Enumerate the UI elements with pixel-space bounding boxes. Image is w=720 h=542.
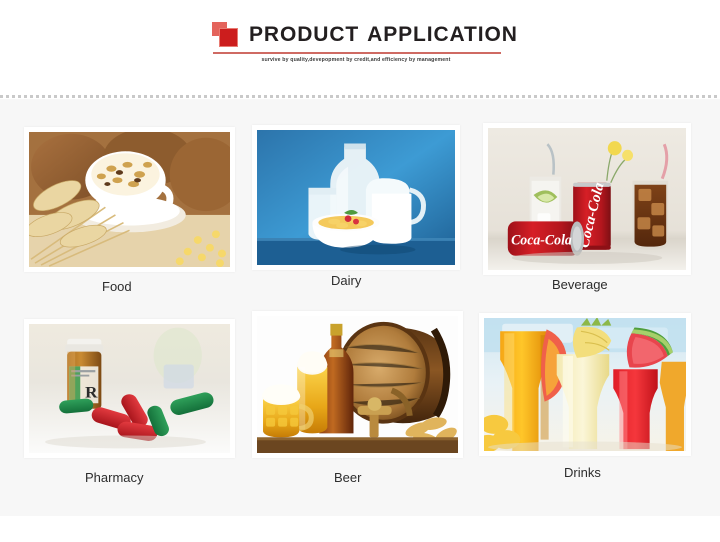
beer-barrel-glass-photo: [257, 316, 458, 453]
slide-header: PRODUCTAPPLICATION survive by quality,de…: [0, 0, 720, 96]
card-beer[interactable]: [252, 311, 463, 458]
card-label-drinks: Drinks: [564, 465, 601, 480]
header-inner: PRODUCTAPPLICATION survive by quality,de…: [212, 20, 512, 63]
product-application-grid: Food: [0, 99, 720, 516]
cereal-bowl-wheat-photo: [29, 132, 230, 267]
logo-square-dark: [219, 28, 238, 47]
card-drinks[interactable]: [479, 313, 691, 456]
title-row: PRODUCTAPPLICATION: [212, 20, 512, 50]
page-title-secondary: APPLICATION: [367, 23, 518, 46]
content-panel: Food: [0, 99, 720, 516]
card-label-pharmacy: Pharmacy: [85, 470, 144, 485]
title-underline-rule: [213, 52, 501, 54]
fruit-juice-glasses-photo: [484, 318, 686, 451]
page-title-primary: PRODUCT: [249, 23, 359, 46]
card-dairy[interactable]: [252, 125, 460, 270]
card-pharmacy[interactable]: R: [24, 319, 235, 458]
card-label-beverage: Beverage: [552, 277, 608, 292]
header-subtitle: survive by quality,devepopment by credit…: [212, 57, 500, 63]
card-label-food: Food: [102, 279, 132, 294]
slide-product-application: PRODUCTAPPLICATION survive by quality,de…: [0, 0, 720, 542]
overlapping-squares-logo-icon: [212, 21, 242, 49]
svg-text:Coca-Cola: Coca-Cola: [511, 232, 572, 248]
page-title: PRODUCTAPPLICATION: [249, 23, 518, 47]
card-beverage[interactable]: Coca-Cola Coca-Cola: [483, 123, 691, 275]
card-label-dairy: Dairy: [331, 273, 361, 288]
coca-cola-cans-glass-photo: Coca-Cola Coca-Cola: [488, 128, 686, 270]
card-label-beer: Beer: [334, 470, 361, 485]
pill-bottle-capsules-photo: R: [29, 324, 230, 453]
header-divider: [0, 95, 720, 98]
card-food[interactable]: [24, 127, 235, 272]
milk-bottle-pitcher-photo: [257, 130, 455, 265]
